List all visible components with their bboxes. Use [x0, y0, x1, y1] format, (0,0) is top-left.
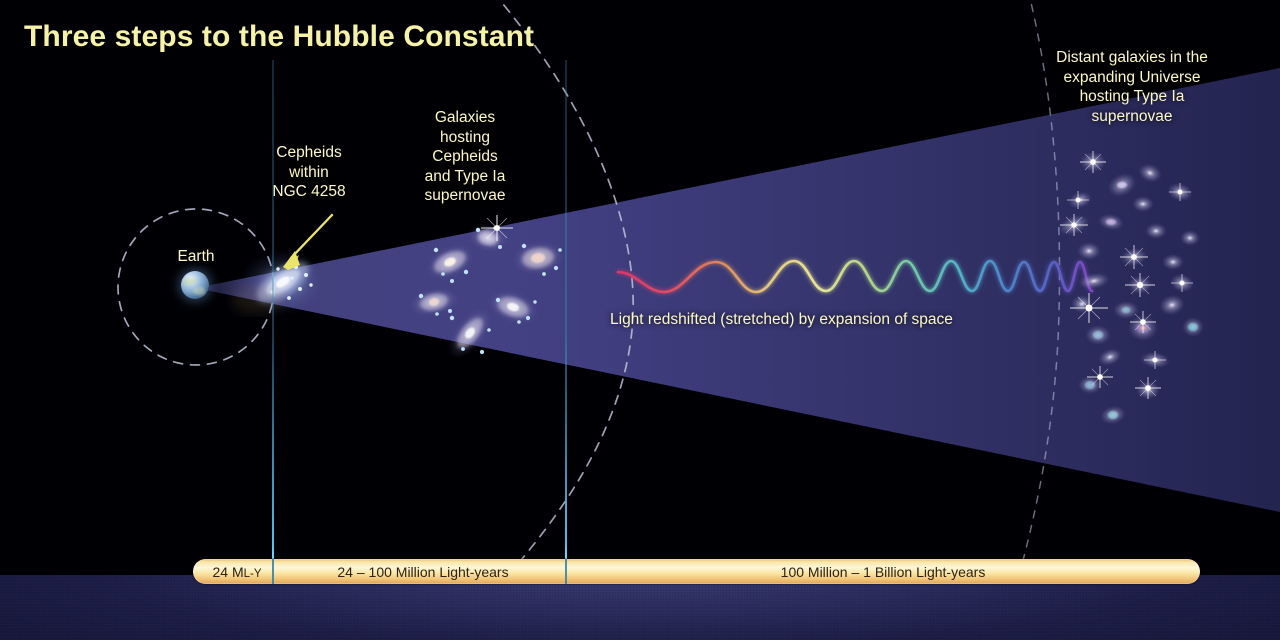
step-divider-line-2	[565, 60, 567, 559]
hubble-constant-infographic: Earth Three steps to the Hubble Constant…	[0, 0, 1280, 640]
step-divider-line-1	[272, 60, 274, 559]
foreground-ground-band	[0, 575, 1280, 640]
earth-globe	[181, 271, 209, 299]
scale-segment-1: 24 ML-Y	[201, 564, 273, 580]
mid-galaxies-label: Galaxies hosting Cepheids and Type Ia su…	[404, 108, 526, 206]
observation-cone	[196, 68, 1280, 512]
scale-segment-3: 100 Million – 1 Billion Light-years	[573, 564, 1193, 580]
scale-segment-1-unit: L-Y	[244, 568, 262, 580]
earth-label: Earth	[161, 247, 231, 267]
distant-galaxies-label: Distant galaxies in the expanding Univer…	[1032, 48, 1232, 126]
distance-scale-bar: 24 ML-Y 24 – 100 Million Light-years 100…	[193, 559, 1200, 584]
redshift-caption: Light redshifted (stretched) by expansio…	[610, 310, 1010, 330]
scale-segment-1-value: 24 M	[212, 564, 243, 580]
scale-divider-2	[565, 559, 567, 584]
cepheids-label: Cepheids within NGC 4258	[244, 143, 374, 202]
page-title: Three steps to the Hubble Constant	[24, 20, 534, 54]
ngc4258-galaxy	[232, 249, 327, 315]
scale-segment-2: 24 – 100 Million Light-years	[281, 564, 565, 580]
